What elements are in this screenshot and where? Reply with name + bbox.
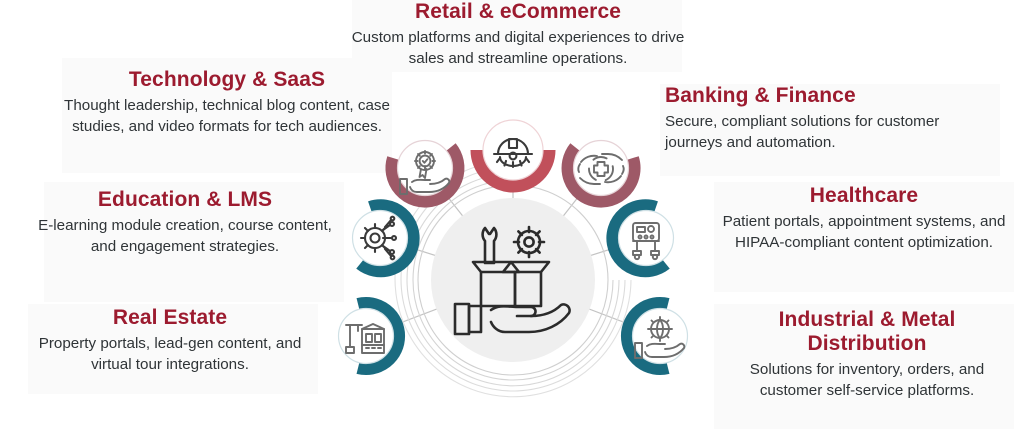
item-title: Healthcare [714,184,1014,208]
item-real-estate[interactable]: Real Estate Property portals, lead-gen c… [20,306,320,376]
item-description: Secure, compliant solutions for customer… [665,112,995,154]
item-technology-saas[interactable]: Technology & SaaS Thought leadership, te… [62,68,392,138]
infographic-canvas: .ln{fill:none;stroke:#3a3a3a;stroke-widt… [0,0,1024,435]
hub-disc [431,198,595,362]
hub-diagram: .ln{fill:none;stroke:#3a3a3a;stroke-widt… [318,88,708,428]
item-healthcare[interactable]: Healthcare Patient portals, appointment … [714,184,1014,254]
item-title: Education & LMS [30,188,340,212]
node-technology-saas[interactable] [391,141,458,202]
item-industrial-metal-distribution[interactable]: Industrial & Metal Distribution Solution… [722,308,1012,402]
item-title: Real Estate [20,306,320,330]
node-banking-finance[interactable] [568,141,635,202]
item-description: E-learning module creation, course conte… [30,216,340,258]
node-education-lms[interactable] [353,205,414,271]
item-education-lms[interactable]: Education & LMS E-learning module creati… [30,188,340,258]
item-description: Property portals, lead-gen content, and … [20,334,320,376]
item-title: Retail & eCommerce [340,0,696,24]
item-description: Patient portals, appointment systems, an… [714,212,1014,254]
item-banking-finance[interactable]: Banking & Finance Secure, compliant solu… [665,84,995,154]
item-description: Solutions for inventory, orders, and cus… [722,360,1012,402]
node-healthcare[interactable] [612,205,673,271]
node-real-estate[interactable] [339,303,400,369]
item-title: Banking & Finance [665,84,995,108]
item-retail-ecommerce[interactable]: Retail & eCommerce Custom platforms and … [340,0,696,70]
item-title: Technology & SaaS [62,68,392,92]
item-title: Industrial & Metal Distribution [722,308,1012,356]
node-industrial-metal-distribution[interactable] [627,303,688,369]
item-description: Thought leadership, technical blog conte… [62,96,392,138]
node-retail-ecommerce[interactable] [477,120,549,186]
item-description: Custom platforms and digital experiences… [340,28,696,70]
